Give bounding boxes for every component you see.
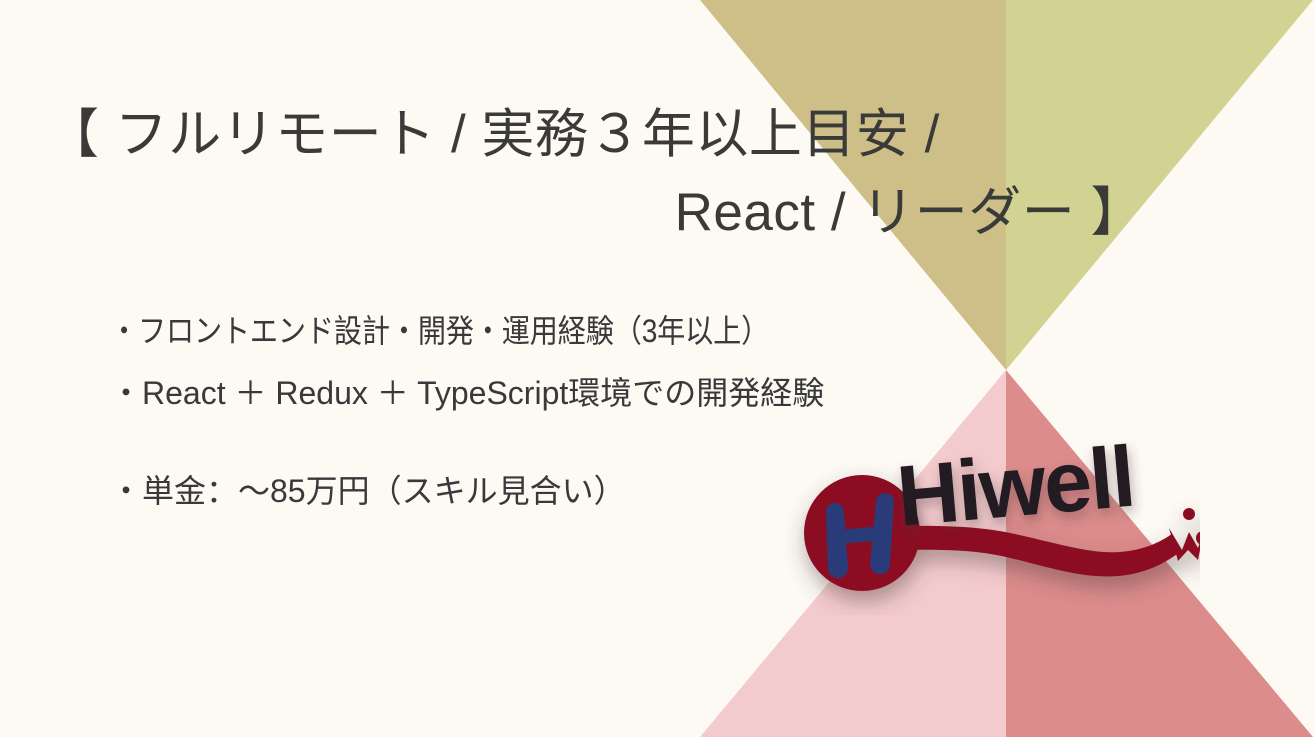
hiwell-logo: Hiwell xyxy=(780,430,1200,615)
logo-wordmark: Hiwell xyxy=(893,430,1137,545)
list-item: ・React ＋ Redux ＋ TypeScript環境での開発経験 xyxy=(110,362,859,424)
dot-3 xyxy=(1196,531,1200,545)
title-line-2: React / リーダー 】 xyxy=(46,174,1156,252)
slide-canvas: 【 フルリモート / 実務３年以上目安 / React / リーダー 】 ・フロ… xyxy=(0,0,1315,737)
page-title: 【 フルリモート / 実務３年以上目安 / React / リーダー 】 xyxy=(46,96,1156,252)
logo-wordmark-group: Hiwell xyxy=(893,430,1137,545)
title-line-1: 【 フルリモート / 実務３年以上目安 / xyxy=(46,96,1156,174)
list-spacer xyxy=(110,424,859,460)
list-item: ・単金：〜85万円（スキル見合い） xyxy=(110,460,859,522)
requirements-list: ・フロントエンド設計・開発・運用経験（3年以上） ・React ＋ Redux … xyxy=(110,300,859,522)
list-item: ・フロントエンド設計・開発・運用経験（3年以上） xyxy=(110,300,769,362)
dot-1 xyxy=(1183,508,1195,520)
